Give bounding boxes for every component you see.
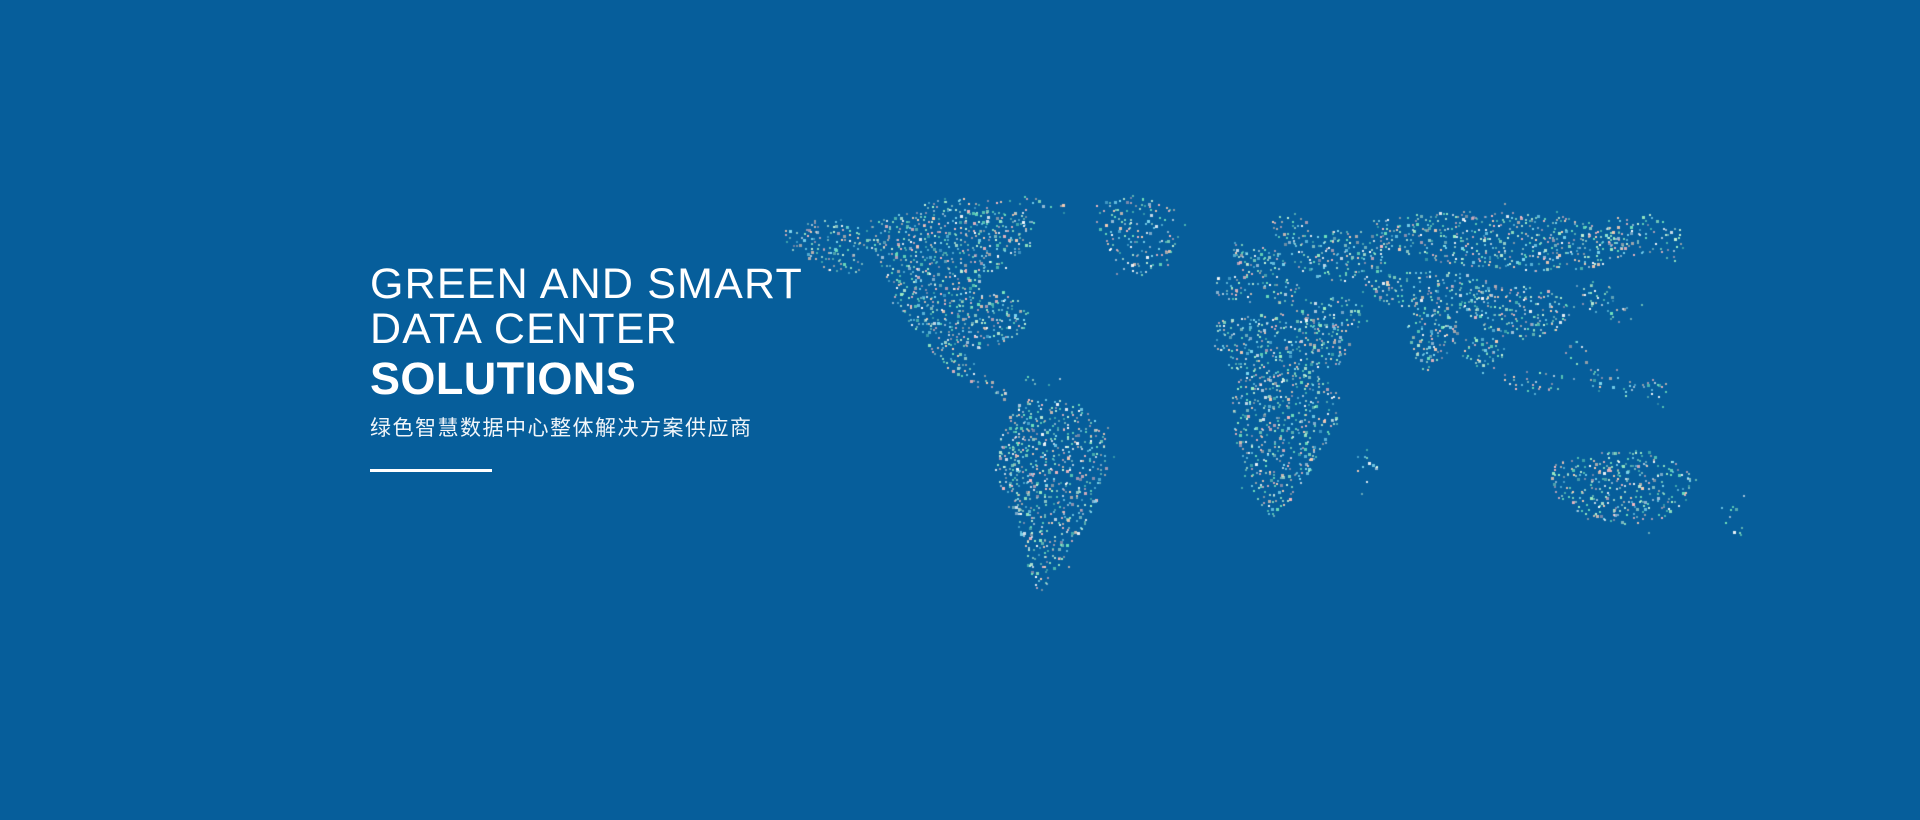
hero-text-block: GREEN AND SMART DATA CENTER SOLUTIONS 绿色… xyxy=(370,262,990,472)
headline-line-3: SOLUTIONS xyxy=(370,354,990,404)
hero-subtitle: 绿色智慧数据中心整体解决方案供应商 xyxy=(370,416,990,442)
hero-banner: GREEN AND SMART DATA CENTER SOLUTIONS 绿色… xyxy=(0,0,1920,820)
hero-divider-rule xyxy=(370,469,492,472)
headline-line-2: DATA CENTER xyxy=(370,307,990,352)
headline-line-1: GREEN AND SMART xyxy=(370,262,990,307)
